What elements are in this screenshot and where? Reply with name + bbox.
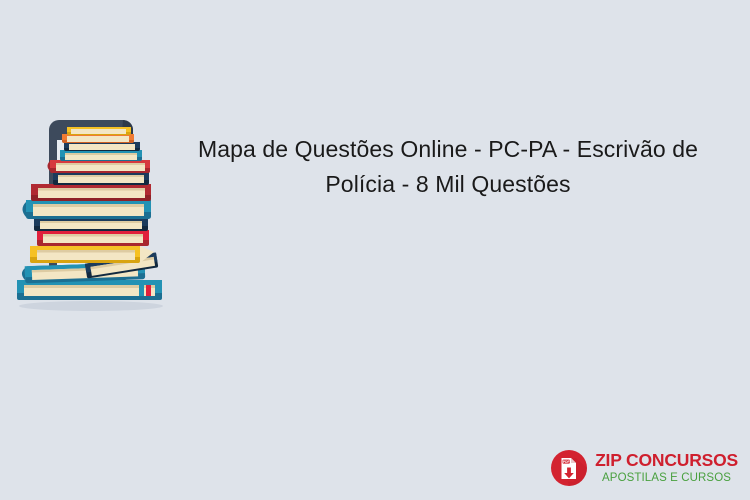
book-bottom-teal <box>17 280 162 300</box>
book-teal-small <box>60 150 142 161</box>
pdf-download-circle-glyph: PDF <box>550 449 588 487</box>
stack-of-books-with-tablet-illustration <box>12 118 170 313</box>
books-tablet-graphic <box>12 118 170 313</box>
zip-concursos-logo[interactable]: PDF ZIP CONCURSOS APOSTILAS E CURSOS <box>550 446 738 490</box>
book-yellow <box>30 246 154 263</box>
banner-title-block: Mapa de Questões Online - PC-PA - Escriv… <box>172 132 724 202</box>
ground-shadow <box>19 301 163 311</box>
logo-secondary-text: APOSTILAS E CURSOS <box>595 473 738 485</box>
pdf-download-circle-icon: PDF <box>550 449 588 487</box>
svg-text:PDF: PDF <box>563 460 570 464</box>
book-navy-thin <box>34 218 148 231</box>
logo-primary-text: ZIP CONCURSOS <box>595 452 738 470</box>
book-navy-upper <box>53 172 149 185</box>
book-navy-top <box>64 142 140 151</box>
promo-banner: Mapa de Questões Online - PC-PA - Escriv… <box>0 0 750 500</box>
logo-wordmark: ZIP CONCURSOS APOSTILAS E CURSOS <box>595 452 738 484</box>
page-title: Mapa de Questões Online - PC-PA - Escriv… <box>172 132 724 202</box>
book-teal-thick <box>23 200 152 219</box>
book-orange-top <box>62 134 134 143</box>
book-red-upper <box>48 160 151 173</box>
book-yellow-top <box>67 127 131 135</box>
book-crimson <box>37 230 149 246</box>
book-darkred <box>31 184 151 201</box>
